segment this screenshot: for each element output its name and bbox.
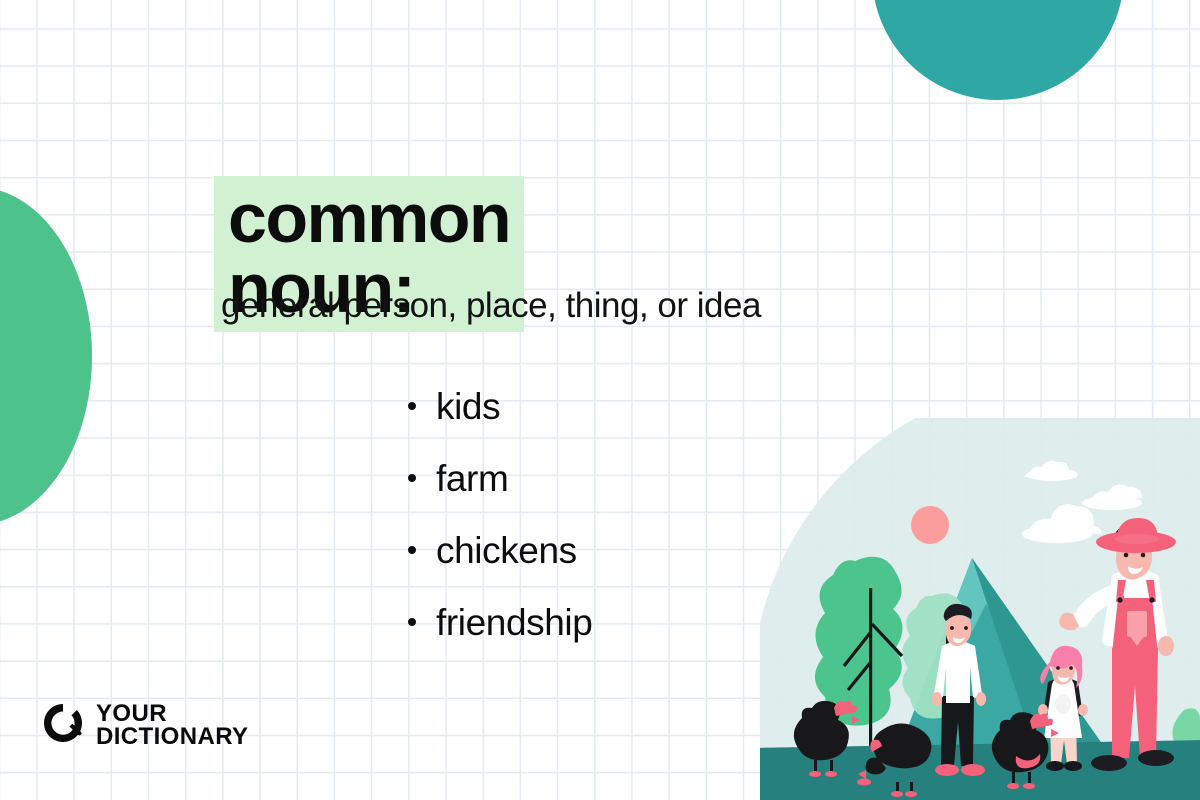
logo-line-dictionary: DICTIONARY <box>96 726 248 749</box>
logo-wordmark: YOUR DICTIONARY <box>96 703 248 748</box>
poster-canvas: common noun: general person, place, thin… <box>0 0 1200 800</box>
bullet-dot-icon <box>408 474 416 482</box>
yourdictionary-logo[interactable]: YOUR DICTIONARY <box>42 702 248 749</box>
list-item-label: chickens <box>436 532 577 569</box>
list-item-label: kids <box>436 388 500 425</box>
list-item: farm <box>408 442 592 514</box>
sun-icon <box>911 506 949 544</box>
q-ring-icon <box>42 702 84 749</box>
bullet-dot-icon <box>408 618 416 626</box>
list-item: chickens <box>408 514 592 586</box>
examples-list: kids farm chickens friendship <box>408 370 592 658</box>
list-item-label: farm <box>436 460 508 497</box>
list-item: friendship <box>408 586 592 658</box>
farm-illustration <box>760 418 1200 800</box>
bullet-dot-icon <box>408 402 416 410</box>
subtitle: general person, place, thing, or idea <box>221 286 761 326</box>
bullet-dot-icon <box>408 546 416 554</box>
list-item: kids <box>408 370 592 442</box>
list-item-label: friendship <box>436 604 592 641</box>
